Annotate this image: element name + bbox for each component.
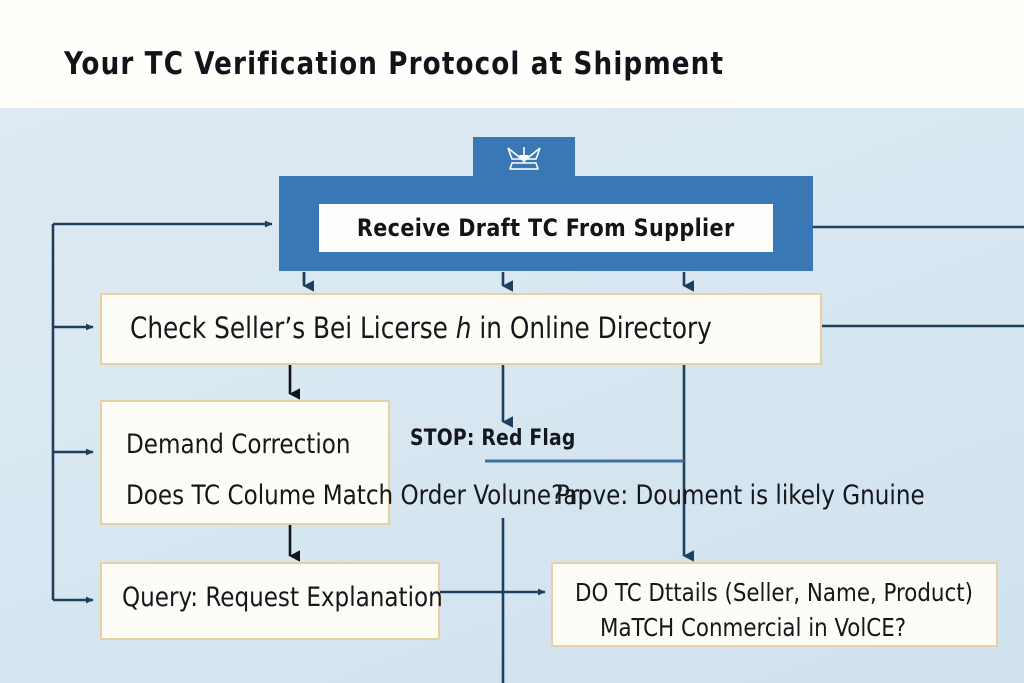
node-check-seller-license-label: Check Seller’s Bei Licerse ℎ in Online D… xyxy=(130,311,712,345)
start-node-label: Receive Draft TC From Supplier xyxy=(357,214,735,242)
inbox-tray-icon xyxy=(473,137,575,179)
stop-red-flag-label: STOP: Red Flag xyxy=(410,426,576,451)
volume-question-label: Does TC Colume Match Order Volune?ap xyxy=(126,480,592,511)
start-node[interactable]: Receive Draft TC From Supplier xyxy=(279,176,813,271)
flowchart-screenshot: Your TC Verification Protocol at Shipmen… xyxy=(0,0,1024,683)
node-tc-details-match-line2: MaTCH Conmercial in VolCE? xyxy=(600,613,906,642)
node-tc-details-match-line1: DO TC Dttails (Seller, Name, Product) xyxy=(575,578,973,607)
prove-genuine-label: Prove: Doument is likely Gnuine xyxy=(556,480,925,511)
start-node-tab xyxy=(473,137,575,179)
node-demand-correction-label: Demand Correction xyxy=(126,429,350,460)
start-node-inner: Receive Draft TC From Supplier xyxy=(319,204,773,252)
node-query-request-explanation-label: Query: Request Explanation xyxy=(122,582,443,613)
